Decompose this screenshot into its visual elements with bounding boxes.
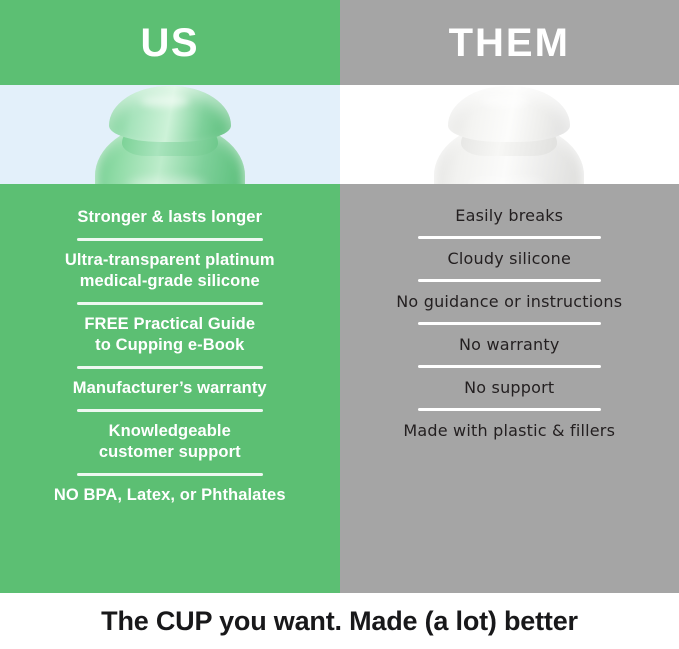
feature-label: Stronger & lasts longer bbox=[0, 207, 340, 228]
comparison-infographic: US Stronger & lasts longer bbox=[0, 0, 679, 649]
feature-divider bbox=[418, 279, 601, 282]
column-us: US Stronger & lasts longer bbox=[0, 0, 340, 593]
feature-list-them: Easily breaks Cloudy silicone No guidanc… bbox=[340, 184, 679, 593]
feature-label: Made with plastic & fillers bbox=[340, 420, 679, 441]
feature-item: No support bbox=[340, 377, 679, 398]
feature-list-us: Stronger & lasts longer Ultra-transparen… bbox=[0, 184, 340, 593]
feature-divider bbox=[77, 409, 263, 412]
feature-item: No warranty bbox=[340, 334, 679, 355]
cup-highlight-lower bbox=[128, 178, 206, 184]
product-photo-them bbox=[340, 85, 679, 184]
column-us-header-label: US bbox=[140, 23, 199, 63]
comparison-grid: US Stronger & lasts longer bbox=[0, 0, 679, 593]
feature-item: Manufacturer’s warranty bbox=[0, 378, 340, 399]
tagline-bar: The CUP you want. Made (a lot) better bbox=[0, 593, 679, 649]
feature-label: No support bbox=[340, 377, 679, 398]
feature-item: Easily breaks bbox=[340, 205, 679, 226]
feature-item: Cloudy silicone bbox=[340, 248, 679, 269]
feature-item: Ultra-transparent platinum medical-grade… bbox=[0, 250, 340, 292]
feature-label: Easily breaks bbox=[340, 205, 679, 226]
feature-label: FREE Practical Guide to Cupping e-Book bbox=[0, 314, 340, 356]
feature-label: Knowledgeable customer support bbox=[0, 421, 340, 463]
column-them: THEM Easily breaks bbox=[340, 0, 679, 593]
feature-item: No guidance or instructions bbox=[340, 291, 679, 312]
green-cup-image bbox=[95, 86, 245, 184]
feature-label: Ultra-transparent platinum medical-grade… bbox=[0, 250, 340, 292]
product-photo-us bbox=[0, 85, 340, 184]
feature-divider bbox=[418, 365, 601, 368]
feature-item: Stronger & lasts longer bbox=[0, 207, 340, 228]
column-them-header: THEM bbox=[340, 0, 679, 85]
cup-dome-shape bbox=[448, 86, 570, 142]
column-us-header: US bbox=[0, 0, 340, 85]
feature-label: NO BPA, Latex, or Phthalates bbox=[0, 485, 340, 506]
feature-item: NO BPA, Latex, or Phthalates bbox=[0, 485, 340, 506]
feature-label: No warranty bbox=[340, 334, 679, 355]
feature-label: Manufacturer’s warranty bbox=[0, 378, 340, 399]
cup-highlight-upper bbox=[480, 95, 529, 107]
feature-item: Made with plastic & fillers bbox=[340, 420, 679, 441]
cup-dome-shape bbox=[109, 86, 231, 142]
white-cup-image bbox=[434, 86, 584, 184]
cup-highlight-lower bbox=[467, 178, 545, 184]
feature-label: No guidance or instructions bbox=[340, 291, 679, 312]
feature-divider bbox=[418, 236, 601, 239]
feature-divider bbox=[77, 238, 263, 241]
feature-divider bbox=[77, 366, 263, 369]
feature-item: Knowledgeable customer support bbox=[0, 421, 340, 463]
feature-divider bbox=[77, 302, 263, 305]
feature-divider bbox=[418, 408, 601, 411]
cup-highlight-upper bbox=[140, 95, 189, 107]
tagline-text: The CUP you want. Made (a lot) better bbox=[101, 608, 578, 635]
feature-label: Cloudy silicone bbox=[340, 248, 679, 269]
feature-divider bbox=[77, 473, 263, 476]
feature-item: FREE Practical Guide to Cupping e-Book bbox=[0, 314, 340, 356]
feature-divider bbox=[418, 322, 601, 325]
column-them-header-label: THEM bbox=[449, 23, 570, 63]
